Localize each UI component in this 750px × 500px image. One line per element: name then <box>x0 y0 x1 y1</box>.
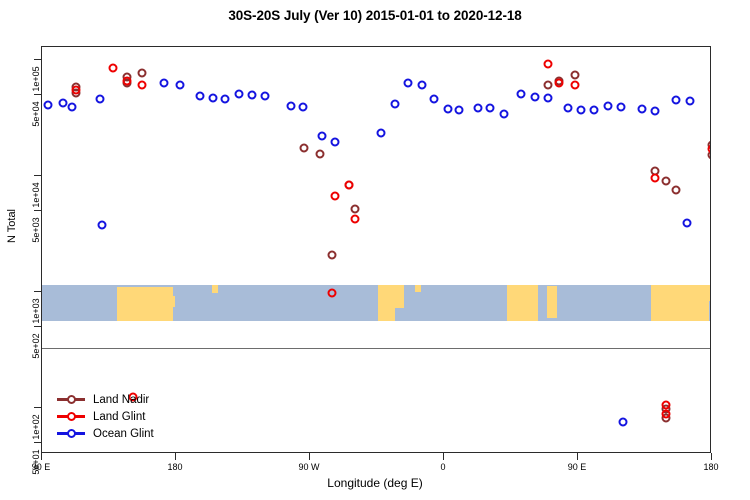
data-point-ocean <box>390 99 399 108</box>
x-tick-mark <box>443 453 444 460</box>
data-point-ocean <box>590 106 599 115</box>
data-point-ocean <box>618 418 627 427</box>
data-point-nadir <box>672 185 681 194</box>
x-tick-label: 180 <box>703 462 718 472</box>
data-point-ocean <box>404 79 413 88</box>
data-point-nadir <box>350 205 359 214</box>
x-tick-label: 180 <box>167 462 182 472</box>
legend-item-0[interactable]: Land Nadir <box>56 391 154 408</box>
data-point-ocean <box>209 93 218 102</box>
y-tick-label: 1e+04 <box>31 173 41 217</box>
land-region <box>212 285 218 293</box>
data-point-ocean <box>454 105 463 114</box>
data-point-ocean <box>97 220 106 229</box>
land-region <box>164 296 175 307</box>
inner-separator-rule <box>42 348 710 349</box>
data-point-glint <box>554 79 563 88</box>
data-point-ocean <box>651 106 660 115</box>
page-title: 30S-20S July (Ver 10) 2015-01-01 to 2020… <box>0 8 750 23</box>
land-region <box>547 286 557 317</box>
data-point-ocean <box>221 94 230 103</box>
data-point-ocean <box>247 90 256 99</box>
data-point-ocean <box>261 91 270 100</box>
data-point-ocean <box>331 138 340 147</box>
data-point-glint <box>350 214 359 223</box>
data-point-glint <box>122 76 131 85</box>
x-tick-mark <box>41 453 42 460</box>
data-point-ocean <box>685 96 694 105</box>
y-axis-label: N Total <box>6 166 18 286</box>
data-point-glint <box>661 401 670 410</box>
land-region <box>705 285 711 301</box>
land-region <box>395 285 404 309</box>
data-point-ocean <box>160 79 169 88</box>
x-tick-label: 0 <box>440 462 445 472</box>
data-point-ocean <box>474 103 483 112</box>
data-point-glint <box>328 289 337 298</box>
legend-marker-icon <box>56 394 86 405</box>
data-point-nadir <box>571 70 580 79</box>
data-point-nadir <box>316 150 325 159</box>
land-region <box>415 285 421 292</box>
data-point-ocean <box>377 129 386 138</box>
data-point-ocean <box>682 219 691 228</box>
legend: Land NadirLand GlintOcean Glint <box>56 391 154 442</box>
data-point-glint <box>571 81 580 90</box>
data-point-ocean <box>499 109 508 118</box>
data-point-ocean <box>429 94 438 103</box>
legend-marker-icon <box>56 411 86 422</box>
x-tick-label: 90 E <box>32 462 51 472</box>
data-point-ocean <box>317 132 326 141</box>
data-point-glint <box>708 145 712 154</box>
legend-label: Land Nadir <box>93 394 149 406</box>
data-point-glint <box>331 191 340 200</box>
land-region <box>651 285 709 321</box>
x-tick-mark <box>577 453 578 460</box>
x-tick-mark <box>711 453 712 460</box>
land-region <box>378 285 395 321</box>
data-point-glint <box>544 60 553 69</box>
data-point-ocean <box>486 104 495 113</box>
data-point-nadir <box>300 143 309 152</box>
data-point-ocean <box>234 89 243 98</box>
data-point-ocean <box>517 90 526 99</box>
land-region <box>529 285 538 306</box>
data-point-glint <box>137 81 146 90</box>
y-tick-label: 1e+03 <box>31 289 41 333</box>
map-band <box>42 285 710 321</box>
data-point-ocean <box>603 101 612 110</box>
data-point-ocean <box>544 93 553 102</box>
data-point-glint <box>651 174 660 183</box>
data-point-ocean <box>672 95 681 104</box>
legend-label: Ocean Glint <box>93 428 154 440</box>
plot-area: Land NadirLand GlintOcean Glint <box>41 46 711 453</box>
data-point-ocean <box>43 101 52 110</box>
data-point-nadir <box>137 69 146 78</box>
x-tick-mark <box>175 453 176 460</box>
data-point-nadir <box>544 81 553 90</box>
legend-item-1[interactable]: Land Glint <box>56 408 154 425</box>
y-tick-label: 1e+02 <box>31 405 41 449</box>
data-point-ocean <box>96 95 105 104</box>
legend-label: Land Glint <box>93 411 145 423</box>
x-tick-mark <box>309 453 310 460</box>
data-point-ocean <box>195 92 204 101</box>
legend-marker-icon <box>56 428 86 439</box>
data-point-nadir <box>661 177 670 186</box>
chart-root: 30S-20S July (Ver 10) 2015-01-01 to 2020… <box>0 0 750 500</box>
data-point-ocean <box>444 104 453 113</box>
data-point-ocean <box>298 102 307 111</box>
data-point-ocean <box>176 81 185 90</box>
data-point-glint <box>109 63 118 72</box>
data-point-ocean <box>67 102 76 111</box>
x-tick-label: 90 W <box>298 462 319 472</box>
data-point-ocean <box>417 80 426 89</box>
legend-item-2[interactable]: Ocean Glint <box>56 425 154 442</box>
x-axis-label: Longitude (deg E) <box>0 476 750 490</box>
data-point-ocean <box>58 98 67 107</box>
data-point-ocean <box>576 105 585 114</box>
data-point-ocean <box>286 101 295 110</box>
data-point-glint <box>72 85 81 94</box>
data-point-ocean <box>530 93 539 102</box>
data-point-nadir <box>328 250 337 259</box>
data-point-glint <box>344 180 353 189</box>
x-tick-label: 90 E <box>568 462 587 472</box>
data-point-glint <box>661 410 670 419</box>
data-point-ocean <box>638 104 647 113</box>
data-point-ocean <box>617 102 626 111</box>
data-point-ocean <box>563 104 572 113</box>
y-tick-label: 1e+05 <box>31 57 41 101</box>
